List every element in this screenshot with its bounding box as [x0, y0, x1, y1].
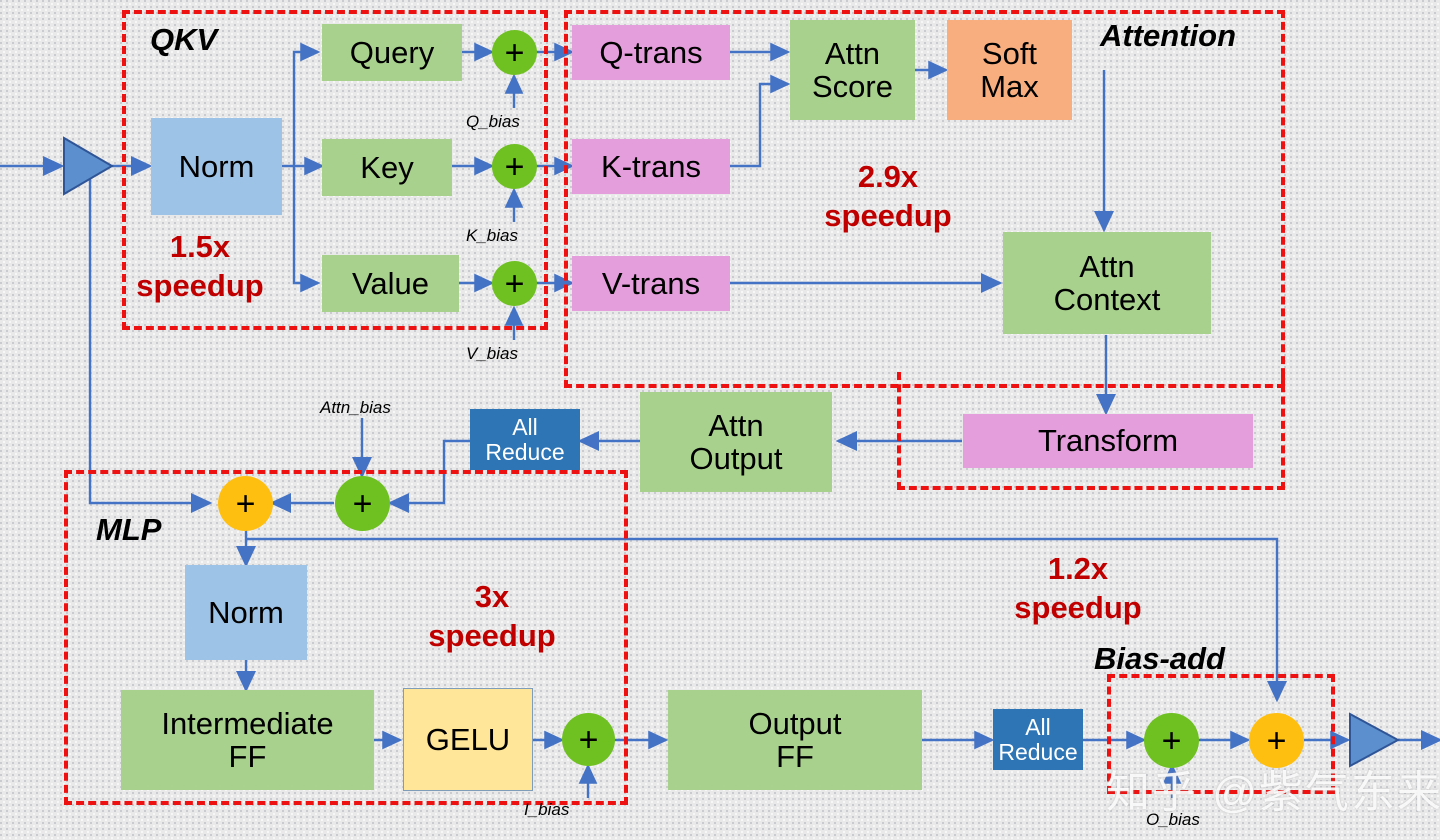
label-attn-bias: Attn_bias — [320, 398, 391, 418]
speedup-qkv: 1.5x speedup — [128, 228, 272, 306]
watermark: 知乎 @紫气东来 — [1106, 756, 1440, 820]
node-value[interactable]: Value — [322, 255, 459, 312]
node-all-reduce-attn[interactable]: All Reduce — [470, 409, 580, 470]
adder-q-bias[interactable]: + — [492, 30, 537, 75]
node-query[interactable]: Query — [322, 24, 462, 81]
node-norm-mlp[interactable]: Norm — [185, 565, 307, 660]
node-transform[interactable]: Transform — [963, 414, 1253, 468]
speedup-mlp: 3x speedup — [412, 578, 572, 656]
speedup-attention: 2.9x speedup — [808, 158, 968, 236]
node-attn-score[interactable]: Attn Score — [790, 20, 915, 120]
node-v-trans[interactable]: V-trans — [572, 256, 730, 311]
node-soft-max[interactable]: Soft Max — [947, 20, 1072, 120]
node-key[interactable]: Key — [322, 139, 452, 196]
node-k-trans[interactable]: K-trans — [572, 139, 730, 194]
diagram-canvas: QKV Attention MLP Bias-add 1.5x speedup … — [0, 0, 1440, 840]
label-k-bias: K_bias — [466, 226, 518, 246]
adder-i-bias[interactable]: + — [562, 713, 615, 766]
region-label-qkv: QKV — [150, 22, 217, 58]
speedup-biasadd: 1.2x speedup — [988, 550, 1168, 628]
adder-k-bias[interactable]: + — [492, 144, 537, 189]
node-q-trans[interactable]: Q-trans — [572, 25, 730, 80]
node-intermediate-ff[interactable]: Intermediate FF — [121, 690, 374, 790]
label-i-bias: I_bias — [524, 800, 569, 820]
node-all-reduce-mlp[interactable]: All Reduce — [993, 709, 1083, 770]
node-attn-context[interactable]: Attn Context — [1003, 232, 1211, 334]
node-norm-attention[interactable]: Norm — [151, 118, 282, 215]
adder-attn-residual[interactable]: + — [218, 476, 273, 531]
label-v-bias: V_bias — [466, 344, 518, 364]
node-attn-output[interactable]: Attn Output — [640, 392, 832, 492]
region-label-bias-add: Bias-add — [1094, 641, 1225, 677]
adder-v-bias[interactable]: + — [492, 261, 537, 306]
region-label-mlp: MLP — [96, 512, 161, 548]
label-q-bias: Q_bias — [466, 112, 520, 132]
region-label-attention: Attention — [1100, 18, 1236, 54]
node-gelu[interactable]: GELU — [403, 688, 533, 791]
input-triangle-icon — [64, 138, 112, 194]
node-output-ff[interactable]: Output FF — [668, 690, 922, 790]
adder-attn-bias[interactable]: + — [335, 476, 390, 531]
